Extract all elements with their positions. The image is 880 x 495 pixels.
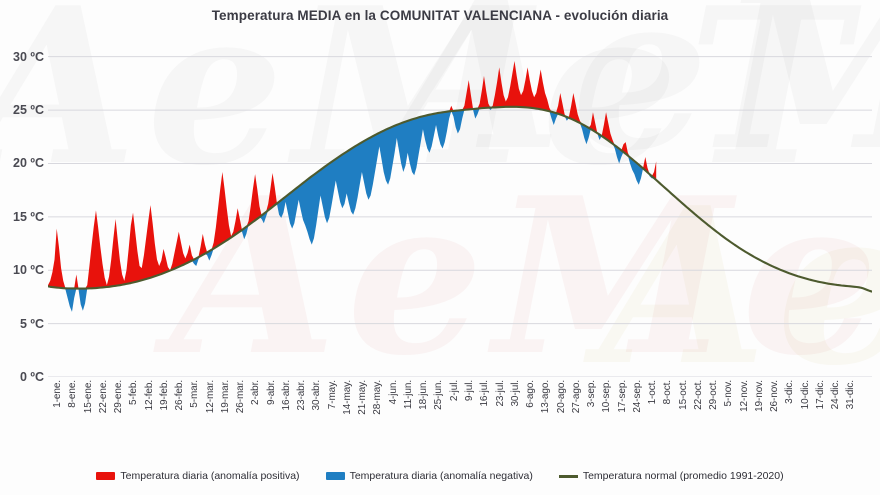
x-axis-tick-label: 12-mar. [205,380,216,413]
y-axis-labels: 0 ºC5 ºC10 ºC15 ºC20 ºC25 ºC30 ºC [0,46,44,377]
x-axis-tick-label: 30-abr. [311,380,322,410]
x-axis-tick-label: 11-jun. [403,380,414,409]
chart-title: Temperatura MEDIA en la COMUNITAT VALENC… [0,8,880,23]
olive-line-swatch [559,475,578,478]
x-axis-tick-label: 20-ago. [556,380,567,413]
x-axis-tick-label: 25-jun. [433,380,444,410]
x-axis-tick-label: 29-ene. [113,380,124,413]
legend-item[interactable]: Temperatura diaria (anomalía positiva) [96,470,299,482]
x-axis-tick-label: 1-oct. [647,380,658,404]
blue-square-swatch [326,472,345,480]
x-axis-tick-label: 12-nov. [739,380,750,412]
x-axis-tick-label: 24-sep. [632,380,643,413]
x-axis-tick-label: 9-abr. [266,380,277,405]
x-axis-tick-label: 23-jul. [495,380,506,407]
x-axis-tick-label: 19-nov. [754,380,765,412]
x-axis-tick-label: 13-ago. [540,380,551,413]
y-axis-tick-label: 10 ºC [13,263,44,277]
x-axis-tick-label: 5-nov. [723,380,734,406]
x-axis-tick-label: 3-dic. [784,380,795,404]
x-axis-tick-label: 26-feb. [174,380,185,410]
red-square-swatch [96,472,115,480]
x-axis-tick-label: 12-feb. [144,380,155,410]
x-axis-tick-label: 5-feb. [128,380,139,405]
x-axis-tick-label: 27-ago. [571,380,582,413]
x-axis-tick-label: 26-nov. [769,380,780,412]
x-axis-tick-label: 17-sep. [617,380,628,413]
x-axis-tick-label: 9-jul. [464,380,475,401]
legend-item[interactable]: Temperatura normal (promedio 1991-2020) [559,470,784,482]
chart-legend: Temperatura diaria (anomalía positiva)Te… [0,470,880,482]
y-axis-tick-label: 30 ºC [13,50,44,64]
x-axis-labels: 1-ene.8-ene.15-ene.22-ene.29-ene.5-feb.1… [48,380,872,460]
x-axis-tick-label: 8-oct. [662,380,673,404]
x-axis-tick-label: 21-may. [357,380,368,415]
x-axis-tick-label: 4-jun. [388,380,399,404]
x-axis-tick-label: 28-may. [372,380,383,415]
x-axis-tick-label: 22-ene. [98,380,109,413]
x-axis-tick-label: 6-ago. [525,380,536,408]
x-axis-tick-label: 23-abr. [296,380,307,410]
x-axis-tick-label: 19-mar. [220,380,231,413]
x-axis-tick-label: 16-abr. [281,380,292,410]
legend-label: Temperatura diaria (anomalía positiva) [120,470,299,482]
y-axis-tick-label: 5 ºC [20,317,44,331]
y-axis-tick-label: 20 ºC [13,156,44,170]
normal-temperature-line [48,107,872,292]
legend-item[interactable]: Temperatura diaria (anomalía negativa) [326,470,533,482]
x-axis-tick-label: 3-sep. [586,380,597,407]
x-axis-tick-label: 16-jul. [479,380,490,407]
x-axis-tick-label: 10-dic. [800,380,811,409]
x-axis-tick-label: 29-oct. [708,380,719,410]
x-axis-tick-label: 5-mar. [189,380,200,408]
y-axis-tick-label: 15 ºC [13,210,44,224]
x-axis-tick-label: 10-sep. [601,380,612,413]
x-axis-tick-label: 14-may. [342,380,353,415]
x-axis-tick-label: 1-ene. [52,380,63,408]
temperature-chart-svg [48,46,872,377]
x-axis-tick-label: 31-dic. [845,380,856,409]
chart-root: AeMeT AeMeT AeMeT AeMeT Temperatura MEDI… [0,0,880,495]
x-axis-tick-label: 30-jul. [510,380,521,407]
x-axis-tick-label: 19-feb. [159,380,170,410]
x-axis-tick-label: 15-oct. [678,380,689,410]
x-axis-tick-label: 15-ene. [83,380,94,413]
x-axis-tick-label: 2-abr. [250,380,261,405]
plot-area [48,46,872,377]
x-axis-tick-label: 17-dic. [815,380,826,409]
legend-label: Temperatura diaria (anomalía negativa) [350,470,533,482]
x-axis-tick-label: 7-may. [327,380,338,409]
x-axis-tick-label: 18-jun. [418,380,429,410]
x-axis-tick-label: 26-mar. [235,380,246,413]
y-axis-tick-label: 0 ºC [20,370,44,384]
x-axis-tick-label: 22-oct. [693,380,704,410]
y-axis-tick-label: 25 ºC [13,103,44,117]
x-axis-tick-label: 8-ene. [67,380,78,408]
x-axis-tick-label: 2-jul. [449,380,460,401]
legend-label: Temperatura normal (promedio 1991-2020) [583,470,784,482]
x-axis-tick-label: 24-dic. [830,380,841,409]
